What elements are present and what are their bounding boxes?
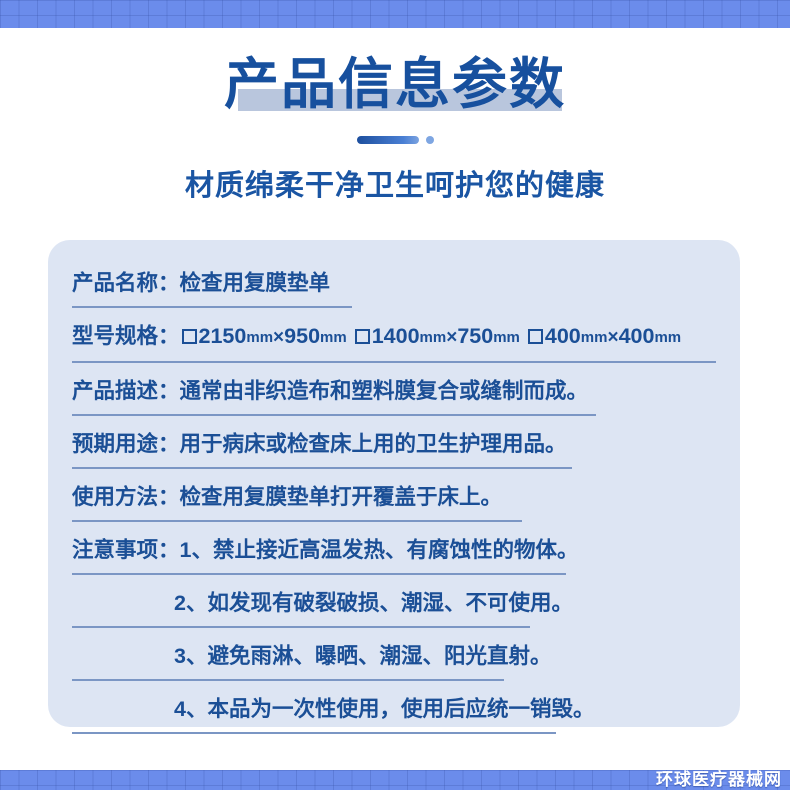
info-row-divider [72,306,352,308]
top-grid-band [0,0,790,28]
info-row-value: 检查用复膜垫单 [180,271,331,295]
page-subtitle: 材质绵柔干净卫生呵护您的健康 [0,162,790,204]
info-row-product-description: 产品描述：通常由非织造布和塑料膜复合或缝制而成。 [72,374,716,416]
info-row-value: 2、如发现有破裂破损、潮湿、不可使用。 [174,591,573,615]
info-row-divider [72,467,572,469]
info-row-value: 通常由非织造布和塑料膜复合或缝制而成。 [180,379,589,403]
info-row-label: 型号规格： [72,324,180,348]
spec-value-3: 400mm×400mm [545,324,681,348]
header-divider [0,134,790,146]
info-row-notice-3: 3、避免雨淋、曝晒、潮湿、阳光直射。 [72,639,716,681]
info-row-label: 产品名称： [72,271,180,295]
info-row-divider [72,679,504,681]
info-row-value: 用于病床或检查床上用的卫生护理用品。 [180,432,567,456]
info-row-divider [72,732,556,734]
page-header: 产品信息参数 材质绵柔干净卫生呵护您的健康 [0,28,790,204]
info-row-label: 预期用途： [72,432,180,456]
info-row-notice-1: 注意事项：1、禁止接近高温发热、有腐蚀性的物体。 [72,533,716,575]
spec-value-1: 2150mm×950mm [199,324,347,348]
spec-checkbox-2[interactable] [355,329,370,344]
info-row-text: 使用方法：检查用复膜垫单打开覆盖于床上。 [72,480,502,514]
info-row-divider [72,414,596,416]
divider-bar [357,136,419,144]
info-row-label: 注意事项： [72,538,180,562]
product-info-card: 产品名称：检查用复膜垫单型号规格：2150mm×950mm 1400mm×750… [48,240,740,727]
info-row-text: 3、避免雨淋、曝晒、潮湿、阳光直射。 [174,639,551,673]
info-row-text: 产品描述：通常由非织造布和塑料膜复合或缝制而成。 [72,374,588,408]
info-row-value: 4、本品为一次性使用，使用后应统一销毁。 [174,697,594,721]
info-row-divider [72,520,522,522]
info-row-text: 2、如发现有破裂破损、潮湿、不可使用。 [174,586,573,620]
info-row-model-spec: 型号规格：2150mm×950mm 1400mm×750mm 400mm×400… [72,319,716,363]
info-row-product-name: 产品名称：检查用复膜垫单 [72,266,716,308]
info-row-text: 4、本品为一次性使用，使用后应统一销毁。 [174,692,594,726]
info-row-label: 使用方法： [72,485,180,509]
info-row-divider [72,573,566,575]
spec-value-2: 1400mm×750mm [372,324,520,348]
spec-checkbox-3[interactable] [528,329,543,344]
title-wrapper: 产品信息参数 [224,56,566,114]
info-row-list: 产品名称：检查用复膜垫单型号规格：2150mm×950mm 1400mm×750… [72,266,716,734]
info-row-label: 产品描述： [72,379,180,403]
page-title: 产品信息参数 [224,56,566,114]
info-row-divider [72,361,716,363]
info-row-intended-use: 预期用途：用于病床或检查床上用的卫生护理用品。 [72,427,716,469]
info-row-text: 产品名称：检查用复膜垫单 [72,266,330,300]
divider-dot [426,136,434,144]
site-watermark: 环球医疗器械网 [656,765,782,790]
spec-checkbox-1[interactable] [182,329,197,344]
info-row-text: 注意事项：1、禁止接近高温发热、有腐蚀性的物体。 [72,533,578,567]
info-row-text: 预期用途：用于病床或检查床上用的卫生护理用品。 [72,427,567,461]
info-row-text: 型号规格：2150mm×950mm 1400mm×750mm 400mm×400… [72,319,681,355]
info-row-notice-2: 2、如发现有破裂破损、潮湿、不可使用。 [72,586,716,628]
info-row-value: 3、避免雨淋、曝晒、潮湿、阳光直射。 [174,644,551,668]
info-row-notice-4: 4、本品为一次性使用，使用后应统一销毁。 [72,692,716,734]
info-row-usage-method: 使用方法：检查用复膜垫单打开覆盖于床上。 [72,480,716,522]
info-row-divider [72,626,530,628]
info-row-value: 1、禁止接近高温发热、有腐蚀性的物体。 [180,538,579,562]
info-row-value: 检查用复膜垫单打开覆盖于床上。 [180,485,503,509]
